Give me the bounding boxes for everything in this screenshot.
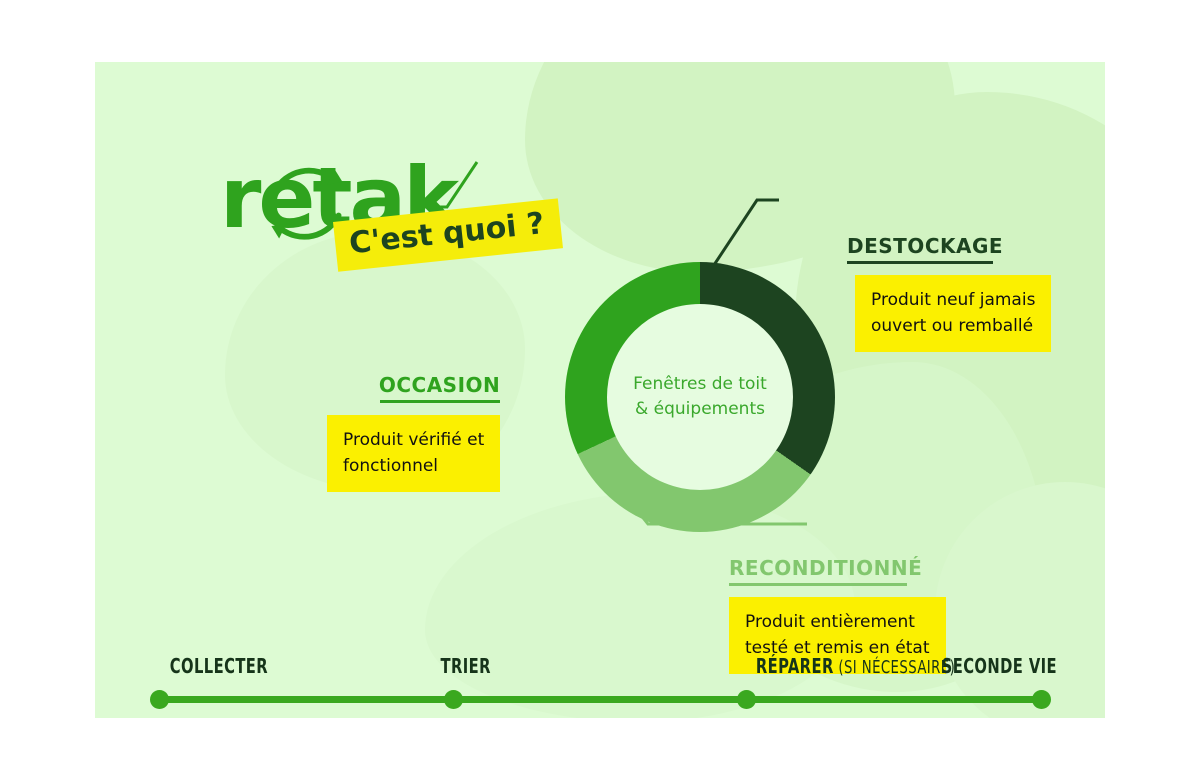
leader-line-destockage <box>714 200 779 265</box>
donut-center: Fenêtres de toit & équipements <box>607 304 793 490</box>
donut-center-label: Fenêtres de toit & équipements <box>633 372 767 422</box>
timeline-track <box>159 696 1041 703</box>
callout-destockage-rule <box>847 261 993 264</box>
timeline-step-label: RÉPARER (SI NÉCESSAIRE) <box>756 654 955 678</box>
timeline-step-label: TRIER <box>441 654 491 678</box>
content-panel: retak C'est quoi ? Fenêtres de toit & éq… <box>95 62 1105 718</box>
callout-occasion-rule <box>380 400 500 403</box>
callout-occasion-label: OCCASION <box>327 373 500 397</box>
timeline-dot[interactable] <box>150 690 169 709</box>
timeline-dot[interactable] <box>444 690 463 709</box>
callout-reconditionne-label: RECONDITIONNÉ <box>729 556 946 580</box>
callout-destockage-label: DESTOCKAGE <box>847 234 1051 258</box>
donut-chart: Fenêtres de toit & équipements <box>565 262 835 532</box>
timeline-dot[interactable] <box>737 690 756 709</box>
timeline-dot[interactable] <box>1032 690 1051 709</box>
callout-reconditionne-rule <box>729 583 907 586</box>
process-timeline: COLLECTERTRIERRÉPARER (SI NÉCESSAIRE)SEC… <box>95 634 1105 718</box>
callout-destockage-description: Produit neuf jamais ouvert ou remballé <box>855 275 1051 352</box>
callout-destockage: DESTOCKAGE Produit neuf jamais ouvert ou… <box>847 234 1051 352</box>
timeline-step-note: (SI NÉCESSAIRE) <box>834 657 955 678</box>
callout-occasion: OCCASION Produit vérifié et fonctionnel <box>327 373 500 492</box>
timeline-step-label: COLLECTER <box>170 654 268 678</box>
timeline-step-label: SECONDE VIE <box>942 654 1057 678</box>
infographic-canvas: retak C'est quoi ? Fenêtres de toit & éq… <box>0 0 1200 780</box>
callout-occasion-description: Produit vérifié et fonctionnel <box>327 415 500 492</box>
